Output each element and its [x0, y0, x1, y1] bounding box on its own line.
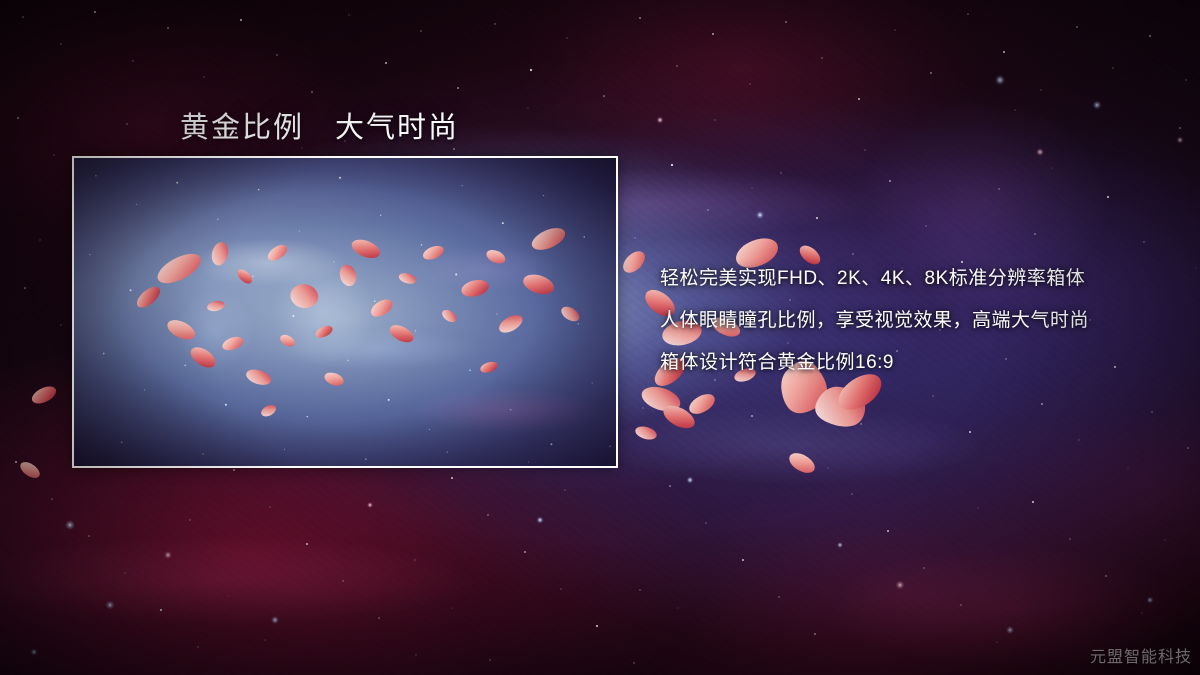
- watermark-label: 元盟智能科技: [1090, 643, 1192, 667]
- page-title: 黄金比例 大气时尚: [180, 104, 459, 146]
- description-line-1: 轻松完美实现FHD、2K、4K、8K标准分辨率箱体: [660, 258, 1160, 300]
- description-line-3: 箱体设计符合黄金比例16:9: [660, 342, 1160, 384]
- preview-vignette: [74, 158, 616, 466]
- preview-image-frame: [72, 156, 618, 468]
- description-line-2: 人体眼睛瞳孔比例，享受视觉效果，高端大气时尚: [660, 300, 1160, 342]
- feature-description: 轻松完美实现FHD、2K、4K、8K标准分辨率箱体 人体眼睛瞳孔比例，享受视觉效…: [660, 258, 1160, 384]
- preview-image: [74, 158, 616, 466]
- presentation-slide: 黄金比例 大气时尚: [0, 0, 1200, 675]
